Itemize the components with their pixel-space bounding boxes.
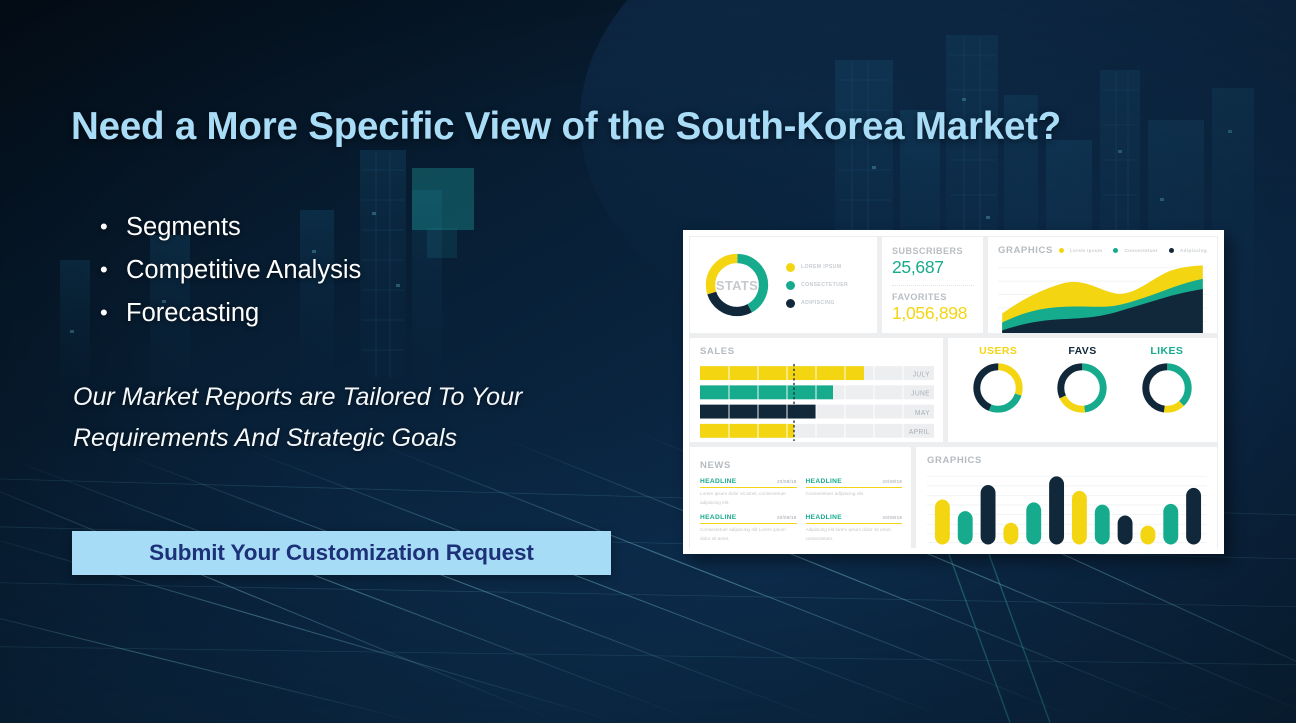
- subscribers-value: 25,687: [892, 257, 974, 278]
- legend-item: ADIPISCING: [786, 299, 848, 308]
- page-title: Need a More Specific View of the South-K…: [71, 105, 1211, 149]
- legend-dot-icon: [786, 281, 795, 290]
- users-donut-group: USERS: [956, 345, 1040, 434]
- news-body: Lorem ipsum dolor sit amet, consectetuer…: [700, 490, 797, 507]
- users-label: USERS: [979, 345, 1017, 357]
- news-card: NEWS HEADLINE 20/08/18 Lorem ipsum dolor…: [690, 447, 911, 548]
- legend-label: ADIPISCING: [801, 300, 835, 306]
- legend-item: Adipiscing: [1169, 248, 1207, 253]
- legend-label: Adipiscing: [1180, 248, 1207, 253]
- area-chart-plot: [998, 261, 1207, 333]
- sales-row-label: JULY: [913, 371, 930, 378]
- kpi-card: SUBSCRIBERS 25,687 FAVORITES 1,056,898: [882, 237, 983, 333]
- news-list-item[interactable]: HEADLINE 20/08/18 Adipiscing elit lorem …: [806, 514, 903, 543]
- news-date: 20/08/18: [883, 515, 902, 520]
- legend-dot-icon: [786, 263, 795, 272]
- favorites-label: FAVORITES: [892, 292, 974, 302]
- list-item-label: Forecasting: [126, 299, 259, 327]
- stats-donut-chart: STATS: [702, 250, 772, 320]
- sales-row-label: APRIL: [909, 429, 930, 436]
- divider: [700, 523, 797, 524]
- stats-legend: LOREM IPSUM CONSECTETUER ADIPISCING: [786, 263, 848, 308]
- hero-content: Need a More Specific View of the South-K…: [0, 0, 700, 723]
- subscribers-label: SUBSCRIBERS: [892, 246, 974, 256]
- bar-chart-plot: [927, 472, 1207, 545]
- legend-label: Lorem Ipsum: [1070, 248, 1103, 253]
- divider: [806, 487, 903, 488]
- bars-card-title: GRAPHICS: [927, 455, 1207, 466]
- tagline-text: Our Market Reports are Tailored To Your …: [73, 377, 673, 459]
- sales-row-label: JUNE: [911, 390, 930, 397]
- sales-bar-chart: JULY JUNE MAY APRIL: [700, 364, 934, 441]
- divider: [892, 285, 974, 286]
- sales-row-label: MAY: [915, 410, 930, 417]
- legend-dot-icon: [1113, 248, 1118, 253]
- favs-donut-chart: [1054, 360, 1110, 416]
- news-headline: HEADLINE: [806, 514, 843, 521]
- news-list-item[interactable]: HEADLINE 20/08/18 Consectetuer adipiscin…: [806, 478, 903, 507]
- stats-donut-card: STATS LOREM IPSUM CONSECTETUER ADIPISCIN…: [690, 237, 877, 333]
- likes-label: LIKES: [1150, 345, 1183, 357]
- legend-item: Lorem Ipsum: [1059, 248, 1103, 253]
- news-list-item[interactable]: HEADLINE 20/08/18 Lorem ipsum dolor sit …: [700, 478, 797, 507]
- legend-dot-icon: [1169, 248, 1174, 253]
- list-item: Forecasting: [96, 292, 361, 335]
- list-item-label: Competitive Analysis: [126, 256, 361, 284]
- legend-label: CONSECTETUER: [801, 282, 848, 288]
- area-card-title: GRAPHICS: [998, 245, 1053, 256]
- news-headline: HEADLINE: [700, 478, 737, 485]
- news-date: 20/08/18: [777, 479, 796, 484]
- sales-card: SALES: [690, 338, 943, 442]
- news-headline: HEADLINE: [806, 478, 843, 485]
- list-item-label: Segments: [126, 213, 241, 241]
- favs-donut-group: FAVS: [1040, 345, 1124, 434]
- feature-list: Segments Competitive Analysis Forecastin…: [96, 206, 361, 335]
- news-date: 20/08/18: [883, 479, 902, 484]
- bar-chart-card: GRAPHICS: [916, 447, 1217, 548]
- area-chart-card: GRAPHICS Lorem Ipsum Consectetuer Adi: [988, 237, 1217, 333]
- news-list-item[interactable]: HEADLINE 20/08/18 Consectetuer adipiscin…: [700, 514, 797, 543]
- triple-donut-card: USERS FAVS: [948, 338, 1217, 442]
- favs-label: FAVS: [1068, 345, 1096, 357]
- favorites-value: 1,056,898: [892, 303, 974, 324]
- legend-item: Consectetuer: [1113, 248, 1158, 253]
- divider: [806, 523, 903, 524]
- divider: [700, 487, 797, 488]
- legend-dot-icon: [1059, 248, 1064, 253]
- list-item: Competitive Analysis: [96, 249, 361, 292]
- cta-label: Submit Your Customization Request: [149, 540, 534, 566]
- submit-customization-request-button[interactable]: Submit Your Customization Request: [72, 531, 611, 575]
- legend-item: LOREM IPSUM: [786, 263, 848, 272]
- users-donut-chart: [970, 360, 1026, 416]
- area-chart-legend: Lorem Ipsum Consectetuer Adipiscing: [1059, 248, 1207, 253]
- news-card-title: NEWS: [700, 460, 731, 471]
- sales-card-title: SALES: [700, 346, 934, 357]
- list-item: Segments: [96, 206, 361, 249]
- dashboard-mockup: STATS LOREM IPSUM CONSECTETUER ADIPISCIN…: [683, 230, 1224, 554]
- legend-dot-icon: [786, 299, 795, 308]
- legend-label: LOREM IPSUM: [801, 264, 841, 270]
- news-body: Consectetuer adipiscing elit Lorem ipsum…: [700, 526, 797, 543]
- legend-item: CONSECTETUER: [786, 281, 848, 290]
- likes-donut-chart: [1139, 360, 1195, 416]
- stats-center-label: STATS: [702, 250, 772, 320]
- news-date: 20/08/18: [777, 515, 796, 520]
- news-body: Adipiscing elit lorem ipsum dolor sit am…: [806, 526, 903, 543]
- likes-donut-group: LIKES: [1125, 345, 1209, 434]
- news-body: Consectetuer adipiscing elit.: [806, 490, 903, 499]
- legend-label: Consectetuer: [1124, 248, 1158, 253]
- news-headline: HEADLINE: [700, 514, 737, 521]
